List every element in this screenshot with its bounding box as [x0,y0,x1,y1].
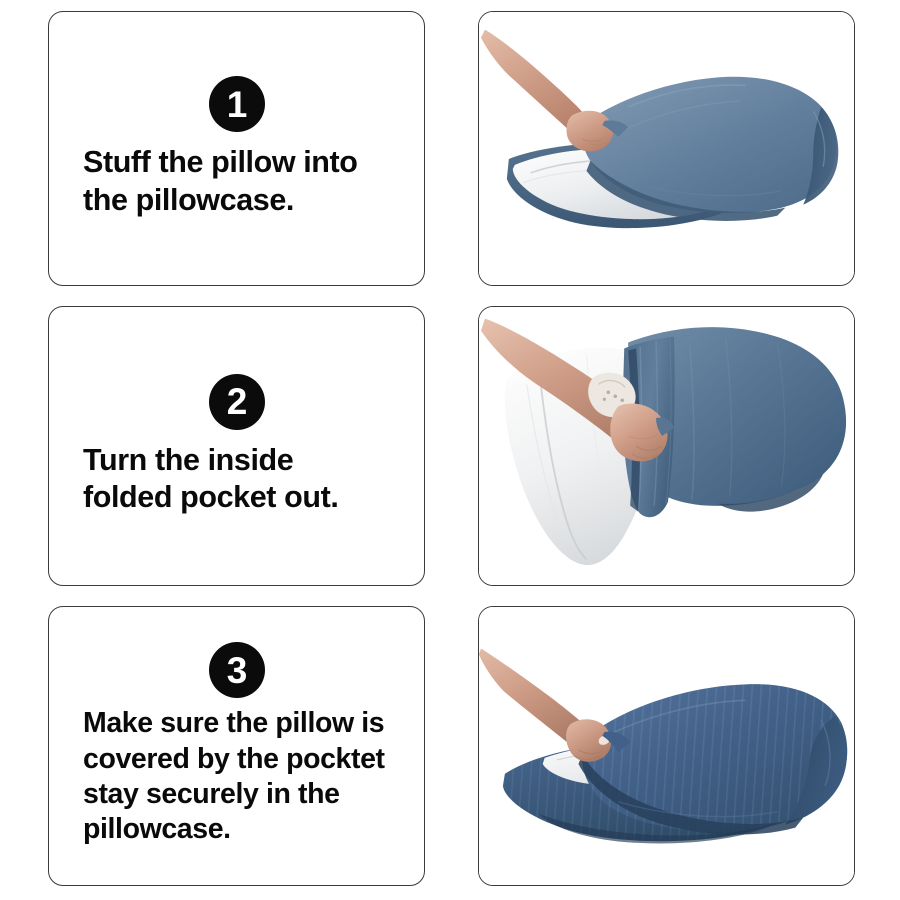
step-2-photo-card [478,306,855,586]
step-2-text-card: 2 Turn the inside folded pocket out. [48,306,425,586]
step-3-instruction: Make sure the pillow is covered by the p… [65,706,408,847]
step-3-text-inner: 3 Make sure the pillow is covered by the… [49,607,424,885]
step-number-badge-2: 2 [209,374,265,430]
photo-arm-reaching-into-pocket [479,307,854,585]
photo-hand-lifting-pillowcase-flap [479,12,854,285]
step-3-text-card: 3 Make sure the pillow is covered by the… [48,606,425,886]
step-3-photo-card [478,606,855,886]
step-2-text-inner: 2 Turn the inside folded pocket out. [49,307,424,585]
instruction-sheet: 1 Stuff the pillow into the pillowcase. [0,0,900,900]
photo-hand-pulling-navy-flap [479,607,854,885]
step-1-text-inner: 1 Stuff the pillow into the pillowcase. [49,12,424,285]
step-1-instruction: Stuff the pillow into the pillowcase. [65,144,408,218]
step-1-photo-card [478,11,855,286]
step-number-badge-1: 1 [209,76,265,132]
step-2-instruction: Turn the inside folded pocket out. [65,442,408,516]
step-1-text-card: 1 Stuff the pillow into the pillowcase. [48,11,425,286]
step-number-badge-3: 3 [209,642,265,698]
